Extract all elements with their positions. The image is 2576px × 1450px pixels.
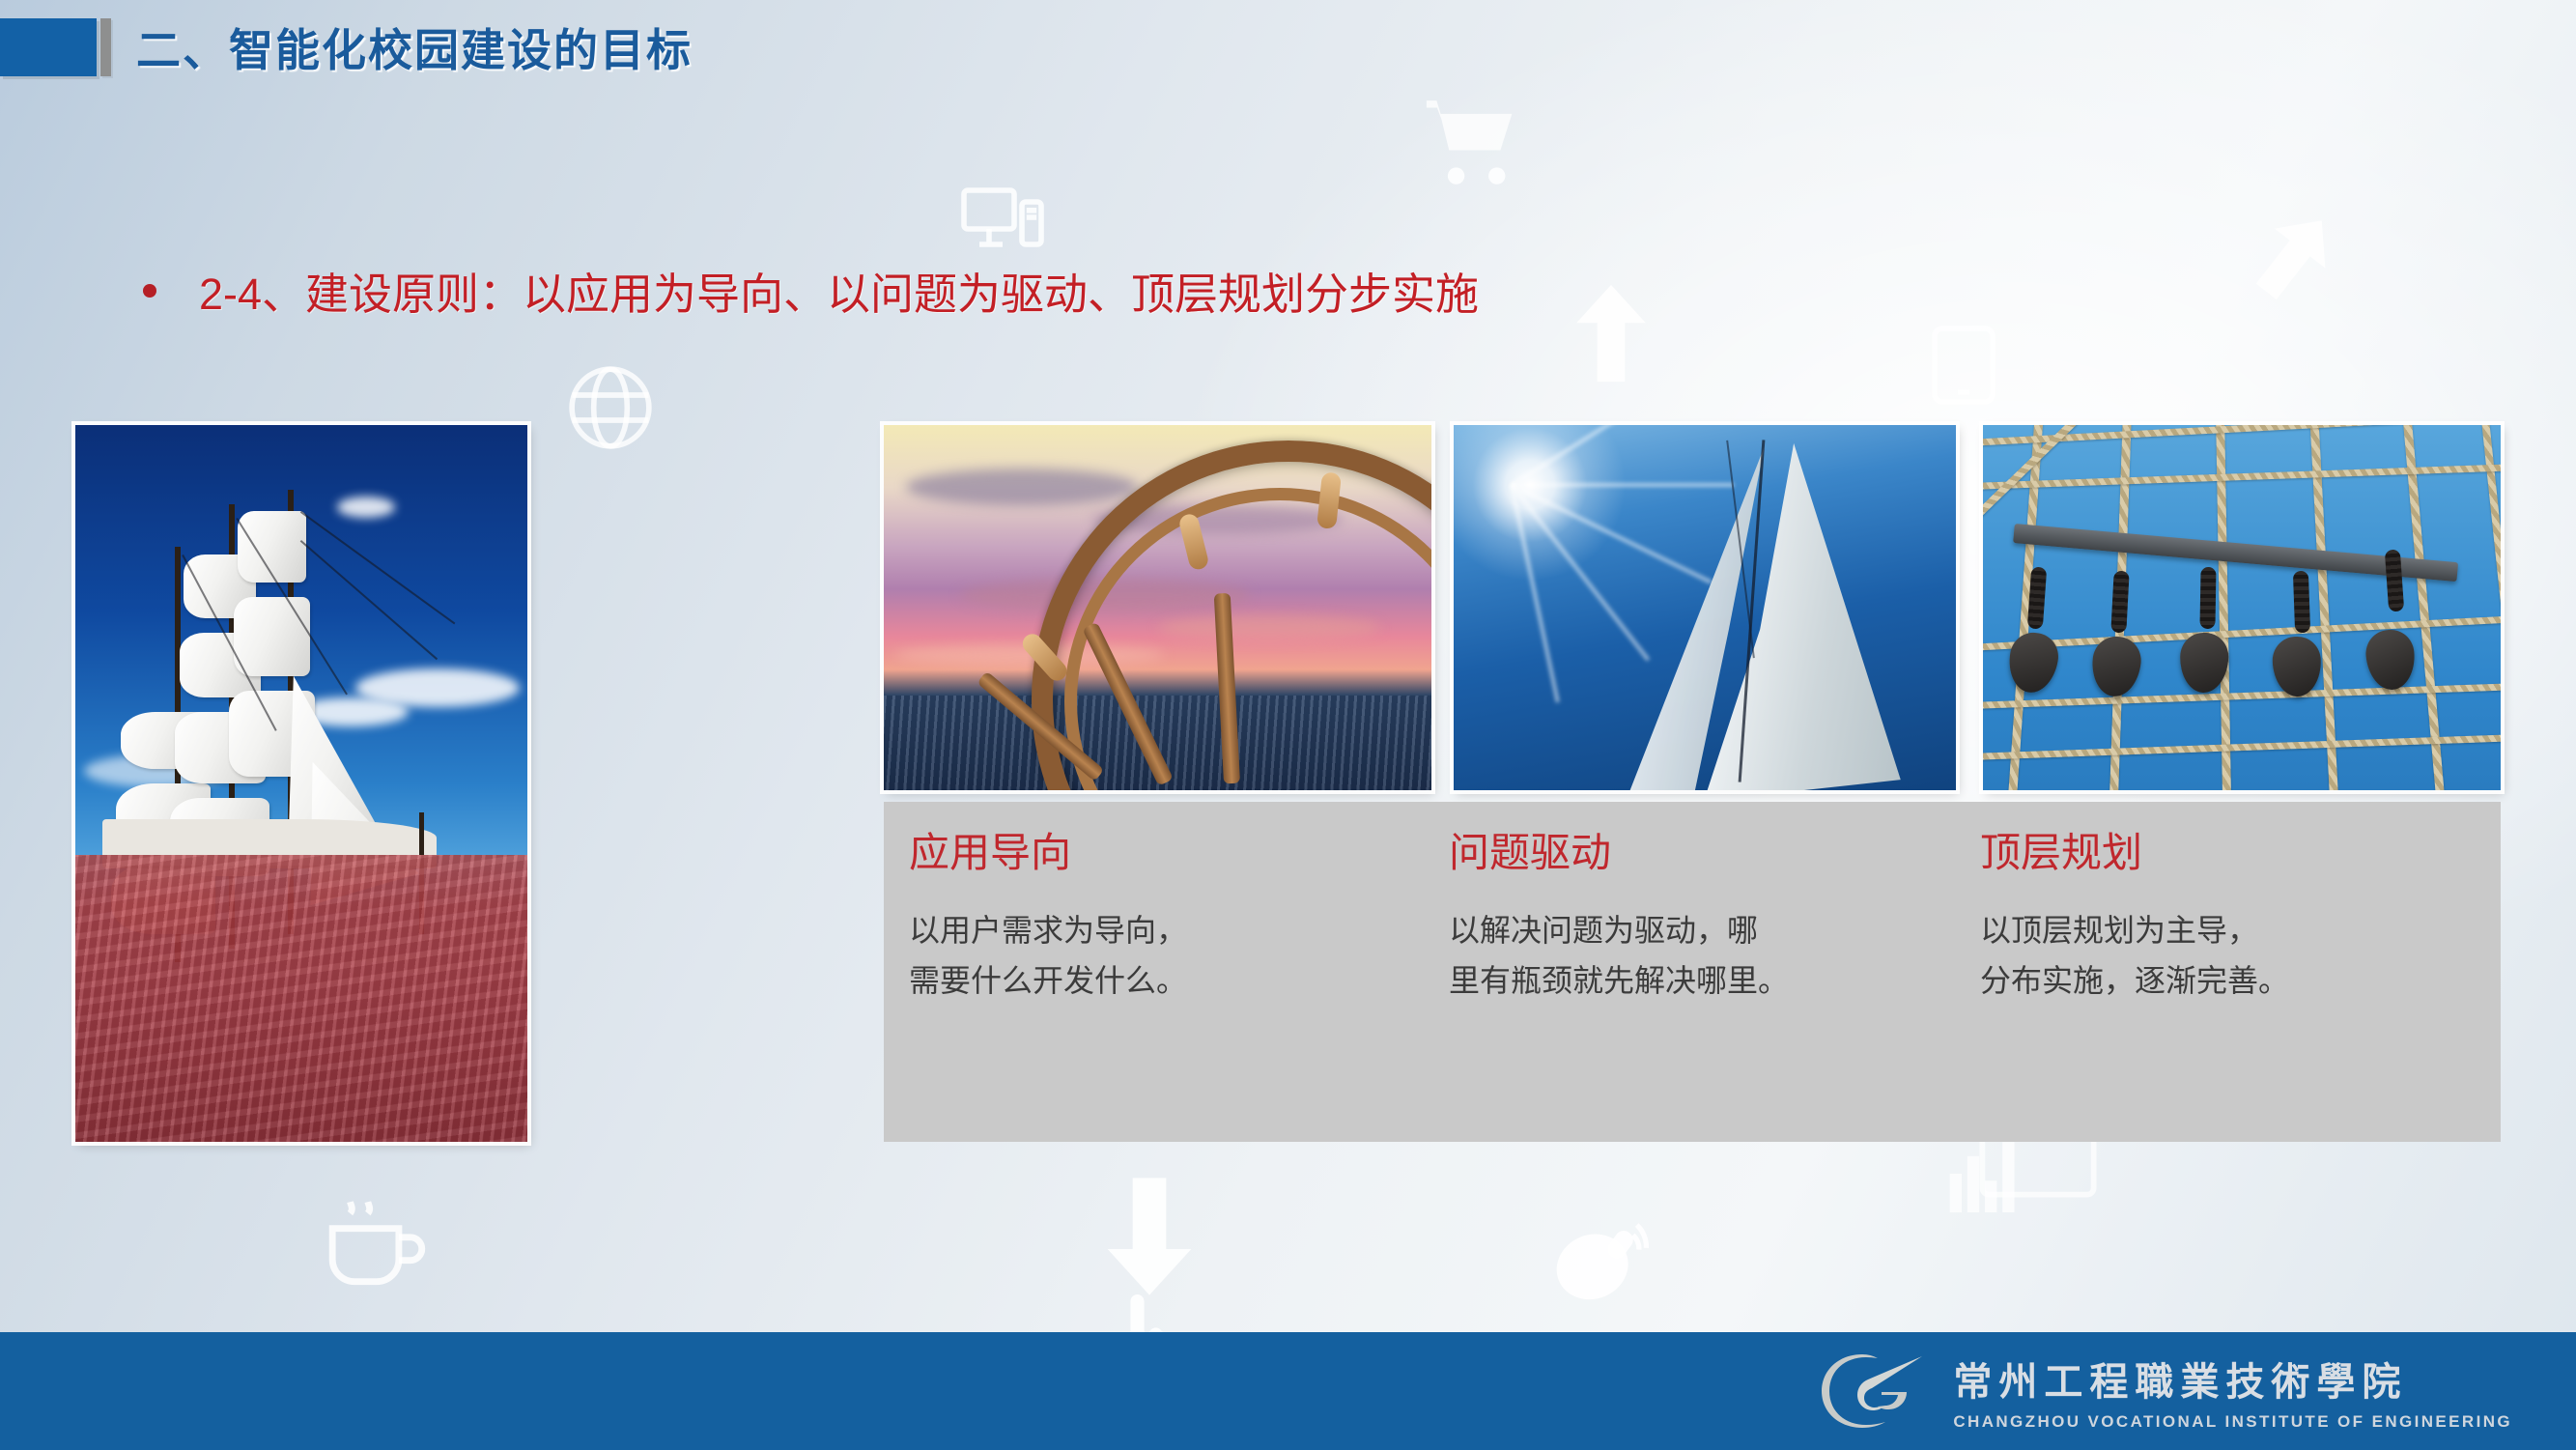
title-divider-bar (100, 18, 111, 76)
caption-body: 以用户需求为导向， 需要什么开发什么。 (909, 906, 1363, 1007)
shopping-cart-icon (1415, 92, 1531, 198)
photo-tall-ship-under-full-sail (75, 425, 527, 1142)
desktop-computer-icon (956, 179, 1049, 271)
changzhou-cg-emblem-icon (1808, 1347, 1932, 1436)
caption-heading: 应用导向 (909, 833, 1363, 873)
arrow-up-icon (2250, 208, 2337, 304)
caption-column-application-oriented: 应用导向 以用户需求为导向， 需要什么开发什么。 (909, 833, 1363, 1007)
caption-line: 里有瓶颈就先解决哪里。 (1449, 956, 1932, 1007)
arrow-up-icon (1570, 280, 1653, 386)
bullet-dot-icon (143, 284, 156, 298)
photo-ships-wheel-at-sunset (884, 425, 1431, 790)
satellite-dish-icon (1545, 1203, 1656, 1314)
caption-line: 需要什么开发什么。 (909, 956, 1363, 1007)
caption-line: 以解决问题为驱动，哪 (1449, 906, 1932, 956)
caption-heading: 顶层规划 (1980, 833, 2463, 873)
slide-footer: 常州工程職業技術學院 CHANGZHOU VOCATIONAL INSTITUT… (0, 1332, 2576, 1450)
caption-line: 以顶层规划为主导， (1980, 906, 2463, 956)
photo-sail-against-sun (1454, 425, 1956, 790)
photo-rigging-blocks-and-ropes (1983, 425, 2501, 790)
rigging-block (2364, 628, 2417, 692)
bar-chart-icon (1946, 1130, 2024, 1217)
coffee-cup-icon (319, 1193, 435, 1299)
institution-name-en: CHANGZHOU VOCATIONAL INSTITUTE OF ENGINE… (1953, 1412, 2512, 1432)
institution-name-cn: 常州工程職業技術學院 (1953, 1350, 2512, 1407)
arrow-down-icon (1096, 1174, 1203, 1299)
caption-body: 以顶层规划为主导， 分布实施，逐渐完善。 (1980, 906, 2463, 1007)
principles-bullet-row: 2-4、建设原则：以应用为导向、以问题为驱动、顶层规划分步实施 (143, 259, 1479, 322)
tablet-icon (1917, 319, 2010, 412)
globe-icon (560, 357, 661, 458)
caption-line: 分布实施，逐渐完善。 (1980, 956, 2463, 1007)
page-title: 二、智能化校园建设的目标 (136, 15, 693, 79)
sun-flare (1454, 425, 1627, 582)
rigging-block (2272, 636, 2322, 697)
principles-subtitle: 2-4、建设原则：以应用为导向、以问题为驱动、顶层规划分步实施 (199, 259, 1479, 322)
caption-column-problem-driven: 问题驱动 以解决问题为驱动，哪 里有瓶颈就先解决哪里。 (1449, 833, 1932, 1007)
caption-heading: 问题驱动 (1449, 833, 1932, 873)
slide-canvas: 二、智能化校园建设的目标 2-4、建设原则：以应用为导向、以问题为驱动、顶层规划… (0, 0, 2576, 1450)
slide-header: 二、智能化校园建设的目标 (0, 18, 693, 76)
institution-names: 常州工程職業技術學院 CHANGZHOU VOCATIONAL INSTITUT… (1953, 1350, 2512, 1432)
captions-panel: 应用导向 以用户需求为导向， 需要什么开发什么。 问题驱动 以解决问题为驱动，哪… (884, 802, 2501, 1142)
caption-line: 以用户需求为导向， (909, 906, 1363, 956)
caption-body: 以解决问题为驱动，哪 里有瓶颈就先解决哪里。 (1449, 906, 1932, 1007)
title-accent-block (0, 18, 97, 76)
caption-column-top-level-planning: 顶层规划 以顶层规划为主导， 分布实施，逐渐完善。 (1980, 833, 2463, 1007)
water-texture (75, 855, 527, 1142)
institution-brand: 常州工程職業技術學院 CHANGZHOU VOCATIONAL INSTITUT… (1808, 1347, 2512, 1436)
